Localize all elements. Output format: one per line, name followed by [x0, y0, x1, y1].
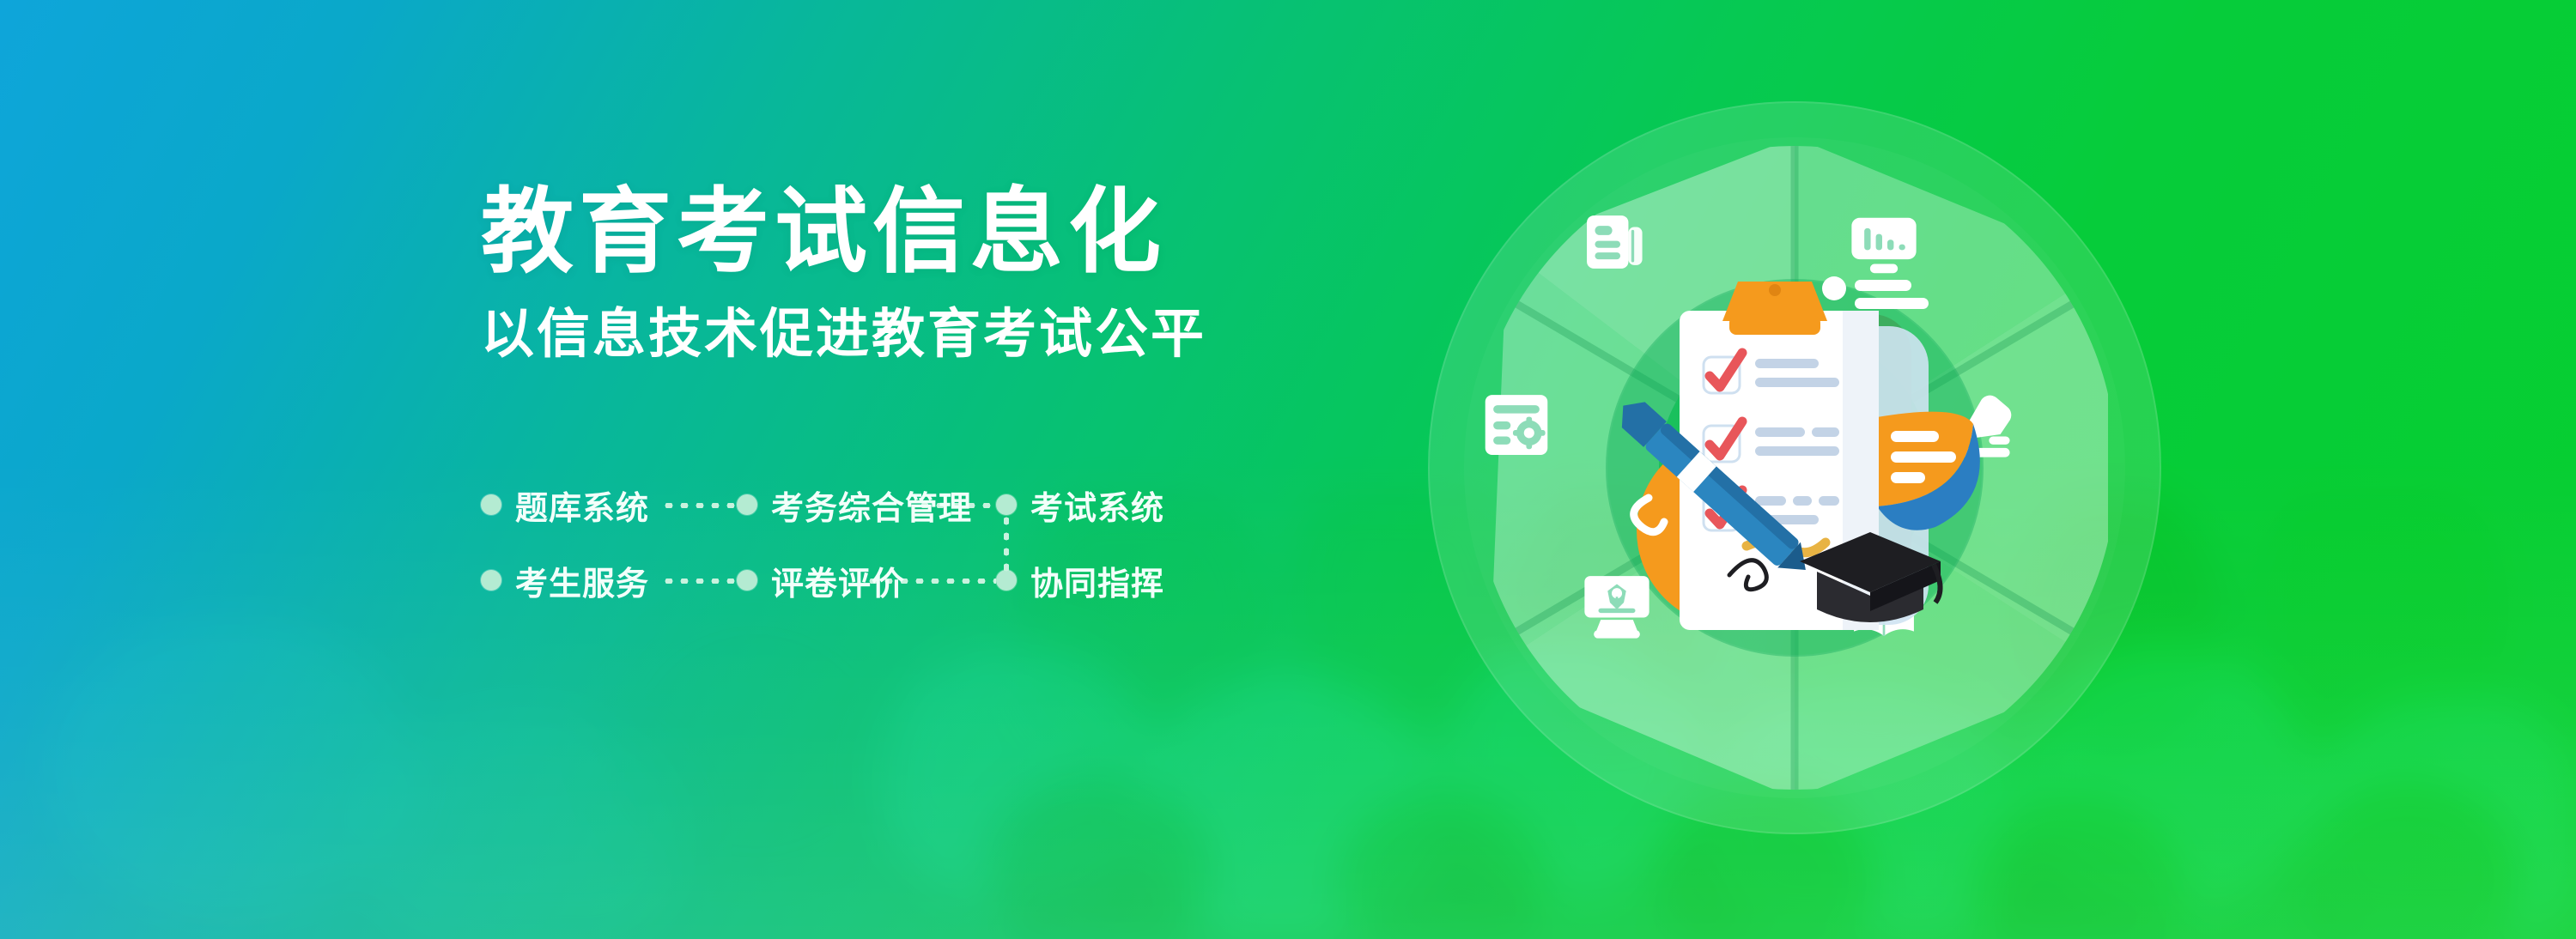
feature-label: 考试系统	[1030, 482, 1164, 529]
exam-clipboard-illustration	[1585, 247, 2014, 694]
background-photo-crowd	[0, 493, 2576, 939]
feature-item-exam-admin[interactable]: 考务综合管理	[737, 481, 972, 529]
feature-item-collaborative-command[interactable]: 协同指挥	[996, 556, 1164, 604]
headline-block: 教育考试信息化 以信息技术促进教育考试公平	[481, 182, 1254, 364]
feature-item-marking-evaluation[interactable]: 评卷评价	[737, 556, 905, 604]
feature-list: 题库系统 考务综合管理 考试系统 考生服务 评卷评价	[481, 481, 1254, 632]
feature-label: 协同指挥	[1030, 557, 1164, 604]
feature-item-candidate-service[interactable]: 考生服务	[481, 556, 649, 604]
circular-infographic	[1428, 101, 2161, 834]
bullet-dot-icon	[481, 494, 501, 515]
hero-banner: 教育考试信息化 以信息技术促进教育考试公平 题库系统 考务综合管理 考试系统	[0, 0, 2576, 939]
feature-connector-vertical	[1004, 513, 1009, 579]
bullet-dot-icon	[737, 570, 757, 591]
feature-label: 考生服务	[515, 557, 649, 604]
feature-label: 题库系统	[515, 482, 649, 529]
feature-item-exam-system[interactable]: 考试系统	[996, 481, 1164, 529]
page-title: 教育考试信息化	[481, 182, 1254, 282]
page-subtitle: 以信息技术促进教育考试公平	[481, 305, 1254, 364]
feature-row: 考生服务 评卷评价 协同指挥	[481, 556, 1254, 632]
bullet-dot-icon	[737, 494, 757, 515]
feature-connector	[661, 503, 737, 508]
feature-row: 题库系统 考务综合管理 考试系统	[481, 481, 1254, 556]
feature-label: 考务综合管理	[771, 482, 972, 529]
feature-connector	[661, 579, 737, 584]
feature-label: 评卷评价	[771, 557, 905, 604]
settings-form-icon	[1475, 384, 1558, 466]
bullet-dot-icon	[996, 494, 1017, 515]
feature-item-question-bank[interactable]: 题库系统	[481, 481, 649, 529]
bullet-dot-icon	[481, 570, 501, 591]
